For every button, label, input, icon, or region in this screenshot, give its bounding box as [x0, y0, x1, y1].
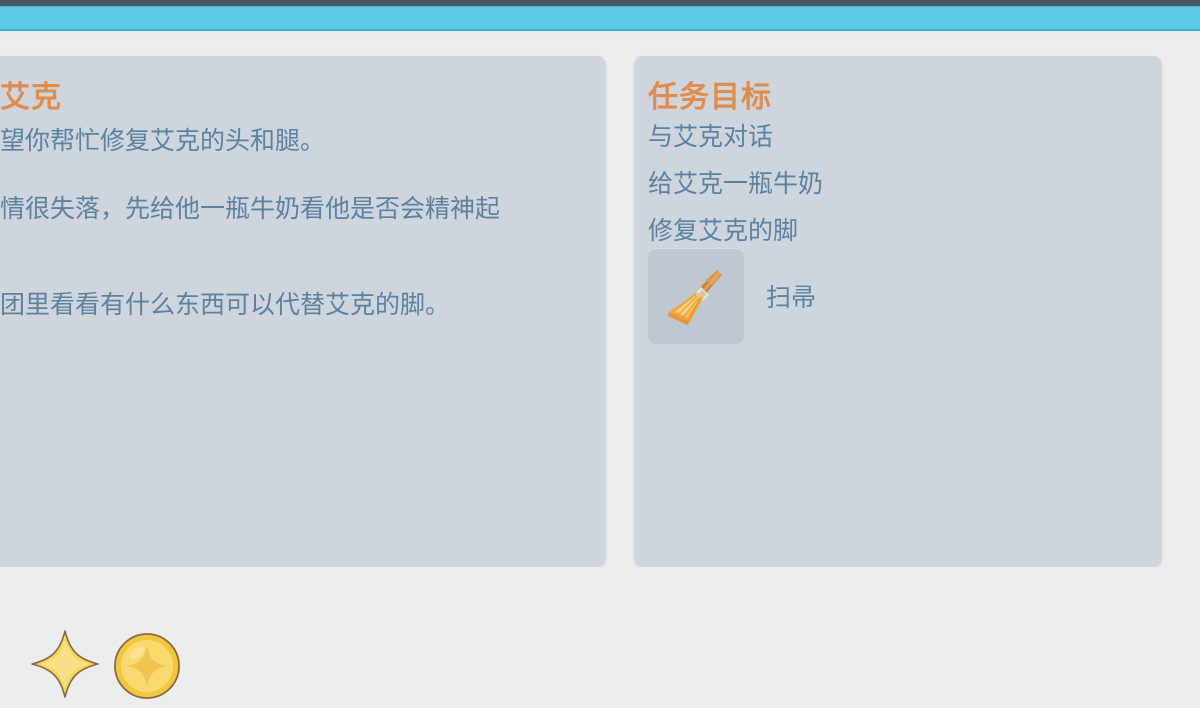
description-line-2: 情很失落，先给他一瓶牛奶看他是否会精神起 [0, 193, 580, 227]
objective-item-2: 给艾克一瓶牛奶 [648, 172, 1148, 197]
star-icon [26, 625, 104, 703]
objective-item-row: 扫帚 [648, 248, 1148, 344]
quest-objectives-panel: 任务目标 与艾克对话 给艾克一瓶牛奶 修复艾克的脚 [634, 56, 1162, 567]
coin-icon [110, 629, 184, 703]
description-line-3: 团里看看有什么东西可以代替艾克的脚。 [0, 289, 580, 323]
description-spacer [0, 227, 580, 289]
objective-item-3: 修复艾克的脚 [648, 219, 1148, 244]
description-line-1: 望你帮忙修复艾克的头和腿。 [0, 125, 580, 159]
star-reward[interactable] [26, 625, 104, 708]
item-slot-broom[interactable] [648, 248, 744, 344]
quest-rewards-strip [0, 567, 1200, 674]
chrome-divider [0, 31, 1200, 33]
quest-objectives-title: 任务目标 [648, 78, 1148, 117]
broom-icon [660, 260, 732, 332]
objective-item-1: 与艾克对话 [648, 125, 1148, 150]
item-label-broom: 扫帚 [766, 278, 816, 314]
description-spacer [0, 159, 580, 193]
window-chrome [0, 0, 1200, 33]
quest-description-panel: 艾克 望你帮忙修复艾克的头和腿。 情很失落，先给他一瓶牛奶看他是否会精神起 团里… [0, 56, 606, 567]
coin-reward[interactable] [110, 629, 184, 708]
quest-description-title: 艾克 [0, 78, 580, 117]
quest-description-body: 望你帮忙修复艾克的头和腿。 情很失落，先给他一瓶牛奶看他是否会精神起 团里看看有… [0, 125, 580, 322]
accent-toolbar [0, 6, 1200, 31]
objective-list: 与艾克对话 给艾克一瓶牛奶 修复艾克的脚 [648, 125, 1148, 244]
